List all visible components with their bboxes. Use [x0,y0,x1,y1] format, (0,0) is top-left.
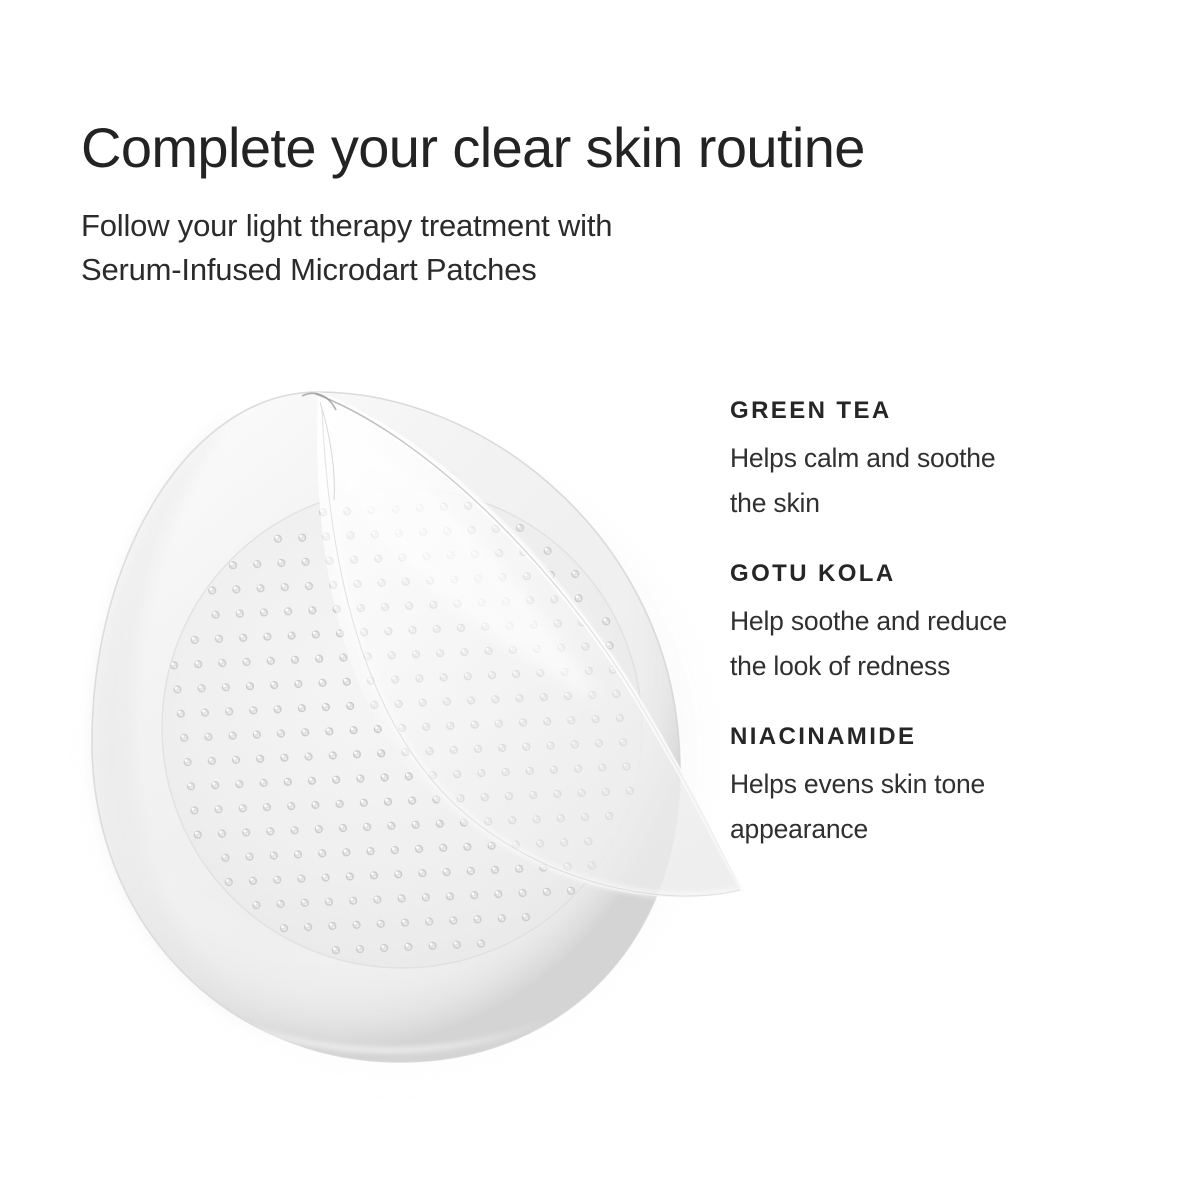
page-subtitle-line-2: Serum-Infused Microdart Patches [81,248,1081,292]
ingredient-desc-line: the skin [730,481,1130,526]
ingredient-name-gotu-kola: GOTU KOLA [730,559,1130,589]
ingredient-item-gotu-kola: GOTU KOLA Help soothe and reduce the loo… [730,559,1130,688]
ingredient-name-niacinamide: NIACINAMIDE [730,722,1130,752]
ingredient-desc-line: Helps evens skin tone [730,762,1130,807]
ingredient-desc-line: the look of redness [730,644,1130,689]
ingredient-item-niacinamide: NIACINAMIDE Helps evens skin tone appear… [730,722,1130,851]
ingredient-desc-gotu-kola: Help soothe and reduce the look of redne… [730,599,1130,688]
ingredient-desc-line: Help soothe and reduce [730,599,1130,644]
page-subtitle-line-1: Follow your light therapy treatment with [81,204,1081,248]
product-marketing-panel: Complete your clear skin routine Follow … [0,0,1200,1200]
ingredient-desc-line: Helps calm and soothe [730,436,1130,481]
ingredient-list: GREEN TEA Helps calm and soothe the skin… [730,396,1130,851]
header-block: Complete your clear skin routine Follow … [81,118,1081,293]
ingredient-desc-line: appearance [730,807,1130,852]
page-subtitle: Follow your light therapy treatment with… [81,204,1081,292]
ingredient-desc-niacinamide: Helps evens skin tone appearance [730,762,1130,851]
ingredient-desc-green-tea: Helps calm and soothe the skin [730,436,1130,525]
ingredient-item-green-tea: GREEN TEA Helps calm and soothe the skin [730,396,1130,525]
page-title: Complete your clear skin routine [81,118,1081,178]
ingredient-name-green-tea: GREEN TEA [730,396,1130,426]
product-image-microdart-patch [30,350,790,1110]
